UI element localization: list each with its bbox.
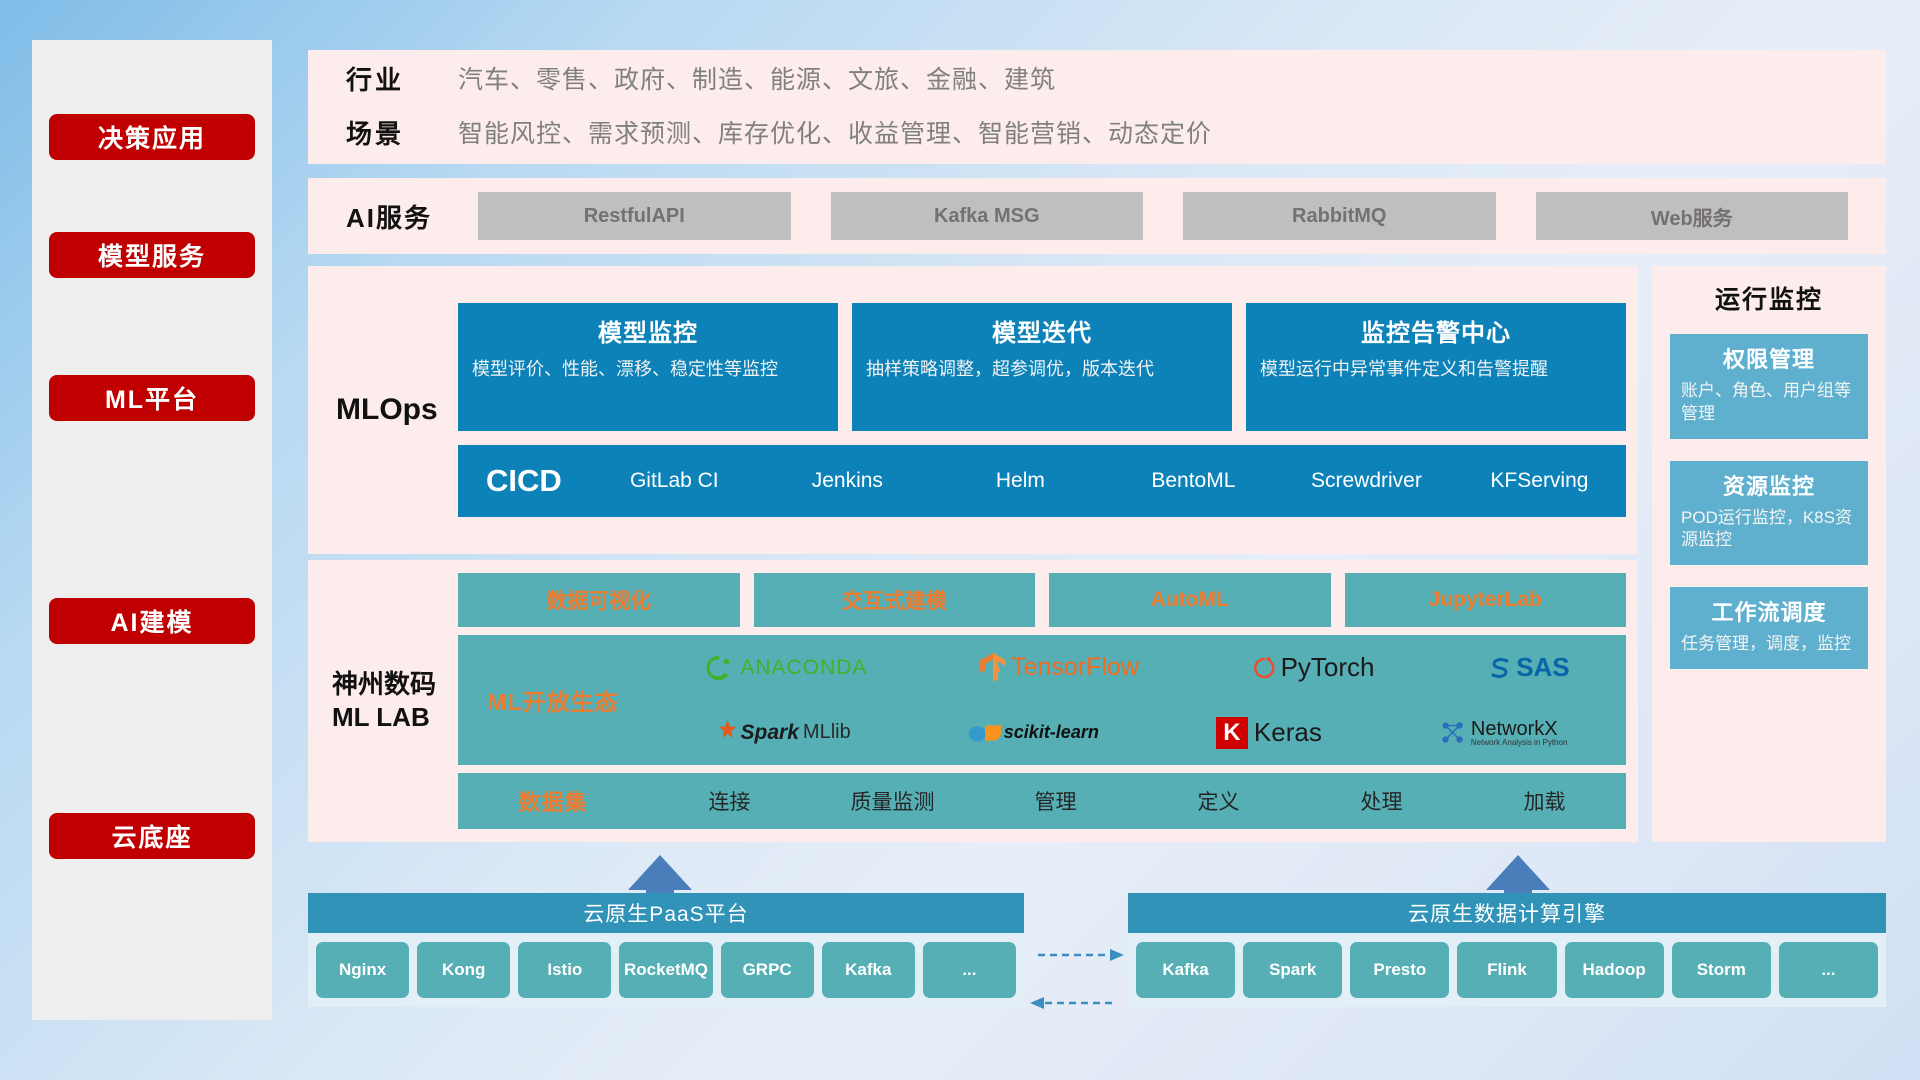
dataset-item-manage[interactable]: 管理	[974, 786, 1137, 816]
spark-mllib-logo: Spark MLlib	[707, 718, 851, 748]
data-engine-chip-presto[interactable]: Presto	[1350, 942, 1449, 998]
scikit-learn-icon	[968, 720, 1002, 746]
layer-chip-model-service[interactable]: 模型服务	[49, 232, 255, 278]
cicd-tool-list: GitLab CI Jenkins Helm BentoML Screwdriv…	[588, 469, 1626, 492]
dataset-item-load[interactable]: 加载	[1463, 786, 1626, 816]
mlops-card-title: 模型迭代	[866, 313, 1218, 348]
mlops-panel: MLOps 模型监控 模型评价、性能、漂移、稳定性等监控 模型迭代 抽样策略调整…	[308, 266, 1638, 554]
mlops-card-alert-center[interactable]: 监控告警中心 模型运行中异常事件定义和告警提醒	[1246, 303, 1626, 431]
layer-chip-ml-platform[interactable]: ML平台	[49, 375, 255, 421]
layer-rail: 决策应用 模型服务 ML平台 AI建模 云底座	[32, 40, 272, 1020]
ai-service-chip-rabbitmq[interactable]: RabbitMQ	[1183, 192, 1496, 240]
mlops-body: 模型监控 模型评价、性能、漂移、稳定性等监控 模型迭代 抽样策略调整，超参调优，…	[458, 293, 1638, 527]
keras-label: Keras	[1254, 717, 1322, 748]
cloud-chip-kong[interactable]: Kong	[417, 942, 510, 998]
mlops-card-list: 模型监控 模型评价、性能、漂移、稳定性等监控 模型迭代 抽样策略调整，超参调优，…	[458, 303, 1626, 431]
monitor-card-workflow[interactable]: 工作流调度 任务管理，调度，监控	[1670, 587, 1868, 669]
dataset-item-list: 连接 质量监测 管理 定义 处理 加载	[648, 786, 1626, 816]
monitor-card-resource[interactable]: 资源监控 POD运行监控，K8S资源监控	[1670, 461, 1868, 566]
cicd-tool-gitlab-ci[interactable]: GitLab CI	[588, 469, 761, 492]
ml-ecosystem-logo-row-2: Spark MLlib scikit-learn K Ker	[648, 700, 1626, 765]
ml-ecosystem-band: ML开放生态 ANACONDA	[458, 635, 1626, 765]
scikit-learn-logo: scikit-learn	[968, 720, 1099, 746]
modeling-title-line2: ML LAB	[332, 701, 458, 734]
dataset-band: 数据集 连接 质量监测 管理 定义 处理 加载	[458, 773, 1626, 829]
sas-label: SAS	[1516, 652, 1569, 683]
monitor-card-title: 资源监控	[1681, 469, 1857, 501]
layer-chip-ai-modeling[interactable]: AI建模	[49, 598, 255, 644]
pytorch-logo: PyTorch	[1252, 652, 1375, 683]
layer-chip-decision[interactable]: 决策应用	[49, 114, 255, 160]
mlops-card-model-monitoring[interactable]: 模型监控 模型评价、性能、漂移、稳定性等监控	[458, 303, 838, 431]
modeling-tool-data-visualization[interactable]: 数据可视化	[458, 573, 740, 627]
modeling-tool-jupyterlab[interactable]: JupyterLab	[1345, 573, 1627, 627]
cicd-tool-screwdriver[interactable]: Screwdriver	[1280, 469, 1453, 492]
spark-icon	[707, 718, 737, 748]
pytorch-icon	[1252, 654, 1276, 682]
scenario-label: 场景	[346, 107, 458, 161]
business-values: 汽车、零售、政府、制造、能源、文旅、金融、建筑 智能风控、需求预测、库存优化、收…	[458, 53, 1886, 161]
mlops-card-model-iteration[interactable]: 模型迭代 抽样策略调整，超参调优，版本迭代	[852, 303, 1232, 431]
modeling-body: 数据可视化 交互式建模 AutoML JupyterLab ML开放生态 ANA…	[458, 565, 1638, 837]
cloud-data-engine-chip-list: Kafka Spark Presto Flink Hadoop Storm ..…	[1128, 933, 1886, 1007]
pytorch-label: PyTorch	[1281, 652, 1375, 683]
ml-ecosystem-label: ML开放生态	[458, 683, 648, 717]
modeling-title-line1: 神州数码	[332, 668, 458, 701]
keras-icon: K	[1216, 717, 1248, 749]
data-engine-chip-kafka[interactable]: Kafka	[1136, 942, 1235, 998]
ml-ecosystem-logo-grid: ANACONDA TensorFlow	[648, 635, 1626, 765]
scikit-learn-label: scikit-learn	[1004, 722, 1099, 743]
dataset-item-define[interactable]: 定义	[1137, 786, 1300, 816]
dataset-item-connect[interactable]: 连接	[648, 786, 811, 816]
tensorflow-label: TensorFlow	[1011, 653, 1139, 682]
ai-service-chip-web[interactable]: Web服务	[1536, 192, 1849, 240]
dataset-label: 数据集	[458, 785, 648, 817]
scenario-list: 智能风控、需求预测、库存优化、收益管理、智能营销、动态定价	[458, 107, 1886, 161]
ai-service-chip-kafka-msg[interactable]: Kafka MSG	[831, 192, 1144, 240]
anaconda-label: ANACONDA	[740, 656, 867, 680]
runtime-monitor-panel: 运行监控 权限管理 账户、角色、用户组等管理 资源监控 POD运行监控，K8S资…	[1652, 266, 1886, 842]
keras-logo: K Keras	[1216, 717, 1322, 749]
sas-logo: SAS	[1487, 652, 1569, 683]
mlops-card-title: 监控告警中心	[1260, 313, 1612, 348]
mlops-card-desc: 模型运行中异常事件定义和告警提醒	[1260, 357, 1612, 381]
monitor-card-title: 工作流调度	[1681, 595, 1857, 627]
cloud-chip-grpc[interactable]: GRPC	[721, 942, 814, 998]
monitor-card-desc: 任务管理，调度，监控	[1681, 633, 1857, 656]
runtime-monitor-title: 运行监控	[1670, 280, 1868, 316]
networkx-icon	[1439, 719, 1467, 747]
monitor-card-desc: POD运行监控，K8S资源监控	[1681, 507, 1857, 553]
monitor-card-permission[interactable]: 权限管理 账户、角色、用户组等管理	[1670, 334, 1868, 439]
networkx-logo: NetworkX Network Analysis in Python	[1439, 719, 1568, 747]
dataset-item-quality[interactable]: 质量监测	[811, 786, 974, 816]
cloud-paas-title: 云原生PaaS平台	[308, 893, 1024, 933]
cicd-bar: CICD GitLab CI Jenkins Helm BentoML Scre…	[458, 445, 1626, 517]
mlops-card-title: 模型监控	[472, 313, 824, 348]
modeling-tool-interactive-modeling[interactable]: 交互式建模	[754, 573, 1036, 627]
mllib-label: MLlib	[803, 721, 851, 744]
arrow-left-dashed-head-icon	[1030, 997, 1044, 1009]
cicd-tool-bentoml[interactable]: BentoML	[1107, 469, 1280, 492]
data-engine-chip-spark[interactable]: Spark	[1243, 942, 1342, 998]
modeling-title: 神州数码 ML LAB	[308, 668, 458, 735]
cloud-paas-chip-list: Nginx Kong Istio RocketMQ GRPC Kafka ...	[308, 933, 1024, 1007]
networkx-label: NetworkX	[1471, 719, 1568, 739]
monitor-card-desc: 账户、角色、用户组等管理	[1681, 380, 1857, 426]
data-engine-chip-flink[interactable]: Flink	[1457, 942, 1556, 998]
arrow-right-dashed-head-icon	[1110, 949, 1124, 961]
tensorflow-icon	[980, 653, 1006, 683]
anaconda-logo: ANACONDA	[704, 653, 867, 683]
cloud-data-engine-group: 云原生数据计算引擎 Kafka Spark Presto Flink Hadoo…	[1128, 893, 1886, 1007]
cloud-chip-kafka[interactable]: Kafka	[822, 942, 915, 998]
ai-service-chip-list: RestfulAPI Kafka MSG RabbitMQ Web服务	[458, 192, 1886, 240]
data-engine-chip-hadoop[interactable]: Hadoop	[1565, 942, 1664, 998]
mlops-card-desc: 抽样策略调整，超参调优，版本迭代	[866, 357, 1218, 381]
cicd-label: CICD	[458, 463, 588, 499]
industry-label: 行业	[346, 53, 458, 107]
cicd-tool-jenkins[interactable]: Jenkins	[761, 469, 934, 492]
mlops-title: MLOps	[308, 393, 458, 427]
tensorflow-logo: TensorFlow	[980, 653, 1139, 683]
ai-service-title: AI服务	[308, 198, 458, 235]
cloud-chip-rocketmq[interactable]: RocketMQ	[619, 942, 712, 998]
layer-chip-cloud-base[interactable]: 云底座	[49, 813, 255, 859]
data-engine-chip-storm[interactable]: Storm	[1672, 942, 1771, 998]
sas-icon	[1487, 655, 1513, 681]
ai-service-chip-restfulapi[interactable]: RestfulAPI	[478, 192, 791, 240]
cloud-chip-more[interactable]: ...	[923, 942, 1016, 998]
cloud-data-engine-title: 云原生数据计算引擎	[1128, 893, 1886, 933]
business-panel: 行业 场景 汽车、零售、政府、制造、能源、文旅、金融、建筑 智能风控、需求预测、…	[308, 50, 1886, 164]
anaconda-icon	[704, 653, 734, 683]
business-labels: 行业 场景	[308, 53, 458, 161]
industry-list: 汽车、零售、政府、制造、能源、文旅、金融、建筑	[458, 53, 1886, 107]
mlops-card-desc: 模型评价、性能、漂移、稳定性等监控	[472, 357, 824, 381]
cicd-tool-helm[interactable]: Helm	[934, 469, 1107, 492]
cloud-chip-nginx[interactable]: Nginx	[316, 942, 409, 998]
dataset-item-process[interactable]: 处理	[1300, 786, 1463, 816]
cloud-paas-group: 云原生PaaS平台 Nginx Kong Istio RocketMQ GRPC…	[308, 893, 1024, 1007]
spark-word: Spark	[741, 721, 799, 745]
cloud-chip-istio[interactable]: Istio	[518, 942, 611, 998]
ml-ecosystem-logo-row-1: ANACONDA TensorFlow	[648, 635, 1626, 700]
monitor-card-title: 权限管理	[1681, 342, 1857, 374]
networkx-tagline: Network Analysis in Python	[1471, 739, 1568, 747]
ai-service-panel: AI服务 RestfulAPI Kafka MSG RabbitMQ Web服务	[308, 178, 1886, 254]
modeling-tool-automl[interactable]: AutoML	[1049, 573, 1331, 627]
modeling-panel: 神州数码 ML LAB 数据可视化 交互式建模 AutoML JupyterLa…	[308, 560, 1638, 842]
data-engine-chip-more[interactable]: ...	[1779, 942, 1878, 998]
cicd-tool-kfserving[interactable]: KFServing	[1453, 469, 1626, 492]
modeling-tool-list: 数据可视化 交互式建模 AutoML JupyterLab	[458, 573, 1626, 627]
